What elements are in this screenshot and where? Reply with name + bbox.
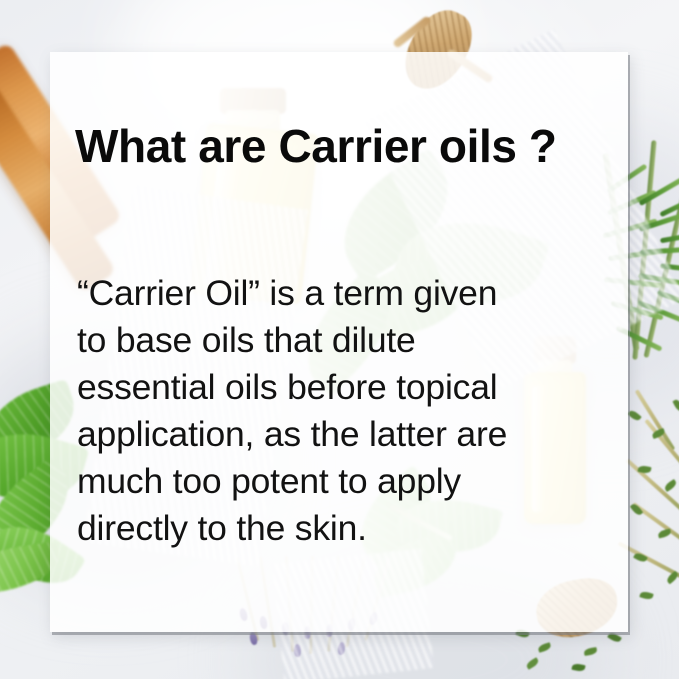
thyme-leaf — [657, 529, 671, 539]
thyme-leaf — [571, 663, 585, 673]
thyme-leaf — [633, 551, 648, 563]
thyme-leaf — [630, 502, 644, 517]
thyme-leaf — [665, 571, 679, 585]
body-line: to base oils that dilute — [77, 317, 611, 364]
body-paragraph: “Carrier Oil” is a term given to base oi… — [77, 270, 611, 552]
text-overlay-card: What are Carrier oils ? “Carrier Oil” is… — [50, 52, 628, 632]
page-title: What are Carrier oils ? — [75, 122, 615, 170]
body-line: directly to the skin. — [77, 505, 611, 552]
thyme-leaf — [584, 647, 598, 656]
body-line: essential oils before topical — [77, 364, 611, 411]
thyme-leaf — [537, 642, 552, 653]
thyme-leaf — [627, 409, 641, 423]
body-line: “Carrier Oil” is a term given — [77, 270, 611, 317]
thyme-leaf — [663, 479, 678, 492]
body-line: application, as the latter are — [77, 411, 611, 458]
thyme-leaf — [607, 631, 622, 644]
thyme-leaf — [525, 657, 540, 670]
thyme-leaf — [672, 398, 679, 413]
body-line: much too potent to apply — [77, 458, 611, 505]
infographic-image: What are Carrier oils ? “Carrier Oil” is… — [0, 0, 679, 679]
rosemary-needle — [638, 175, 679, 206]
thyme-twig — [635, 389, 675, 450]
